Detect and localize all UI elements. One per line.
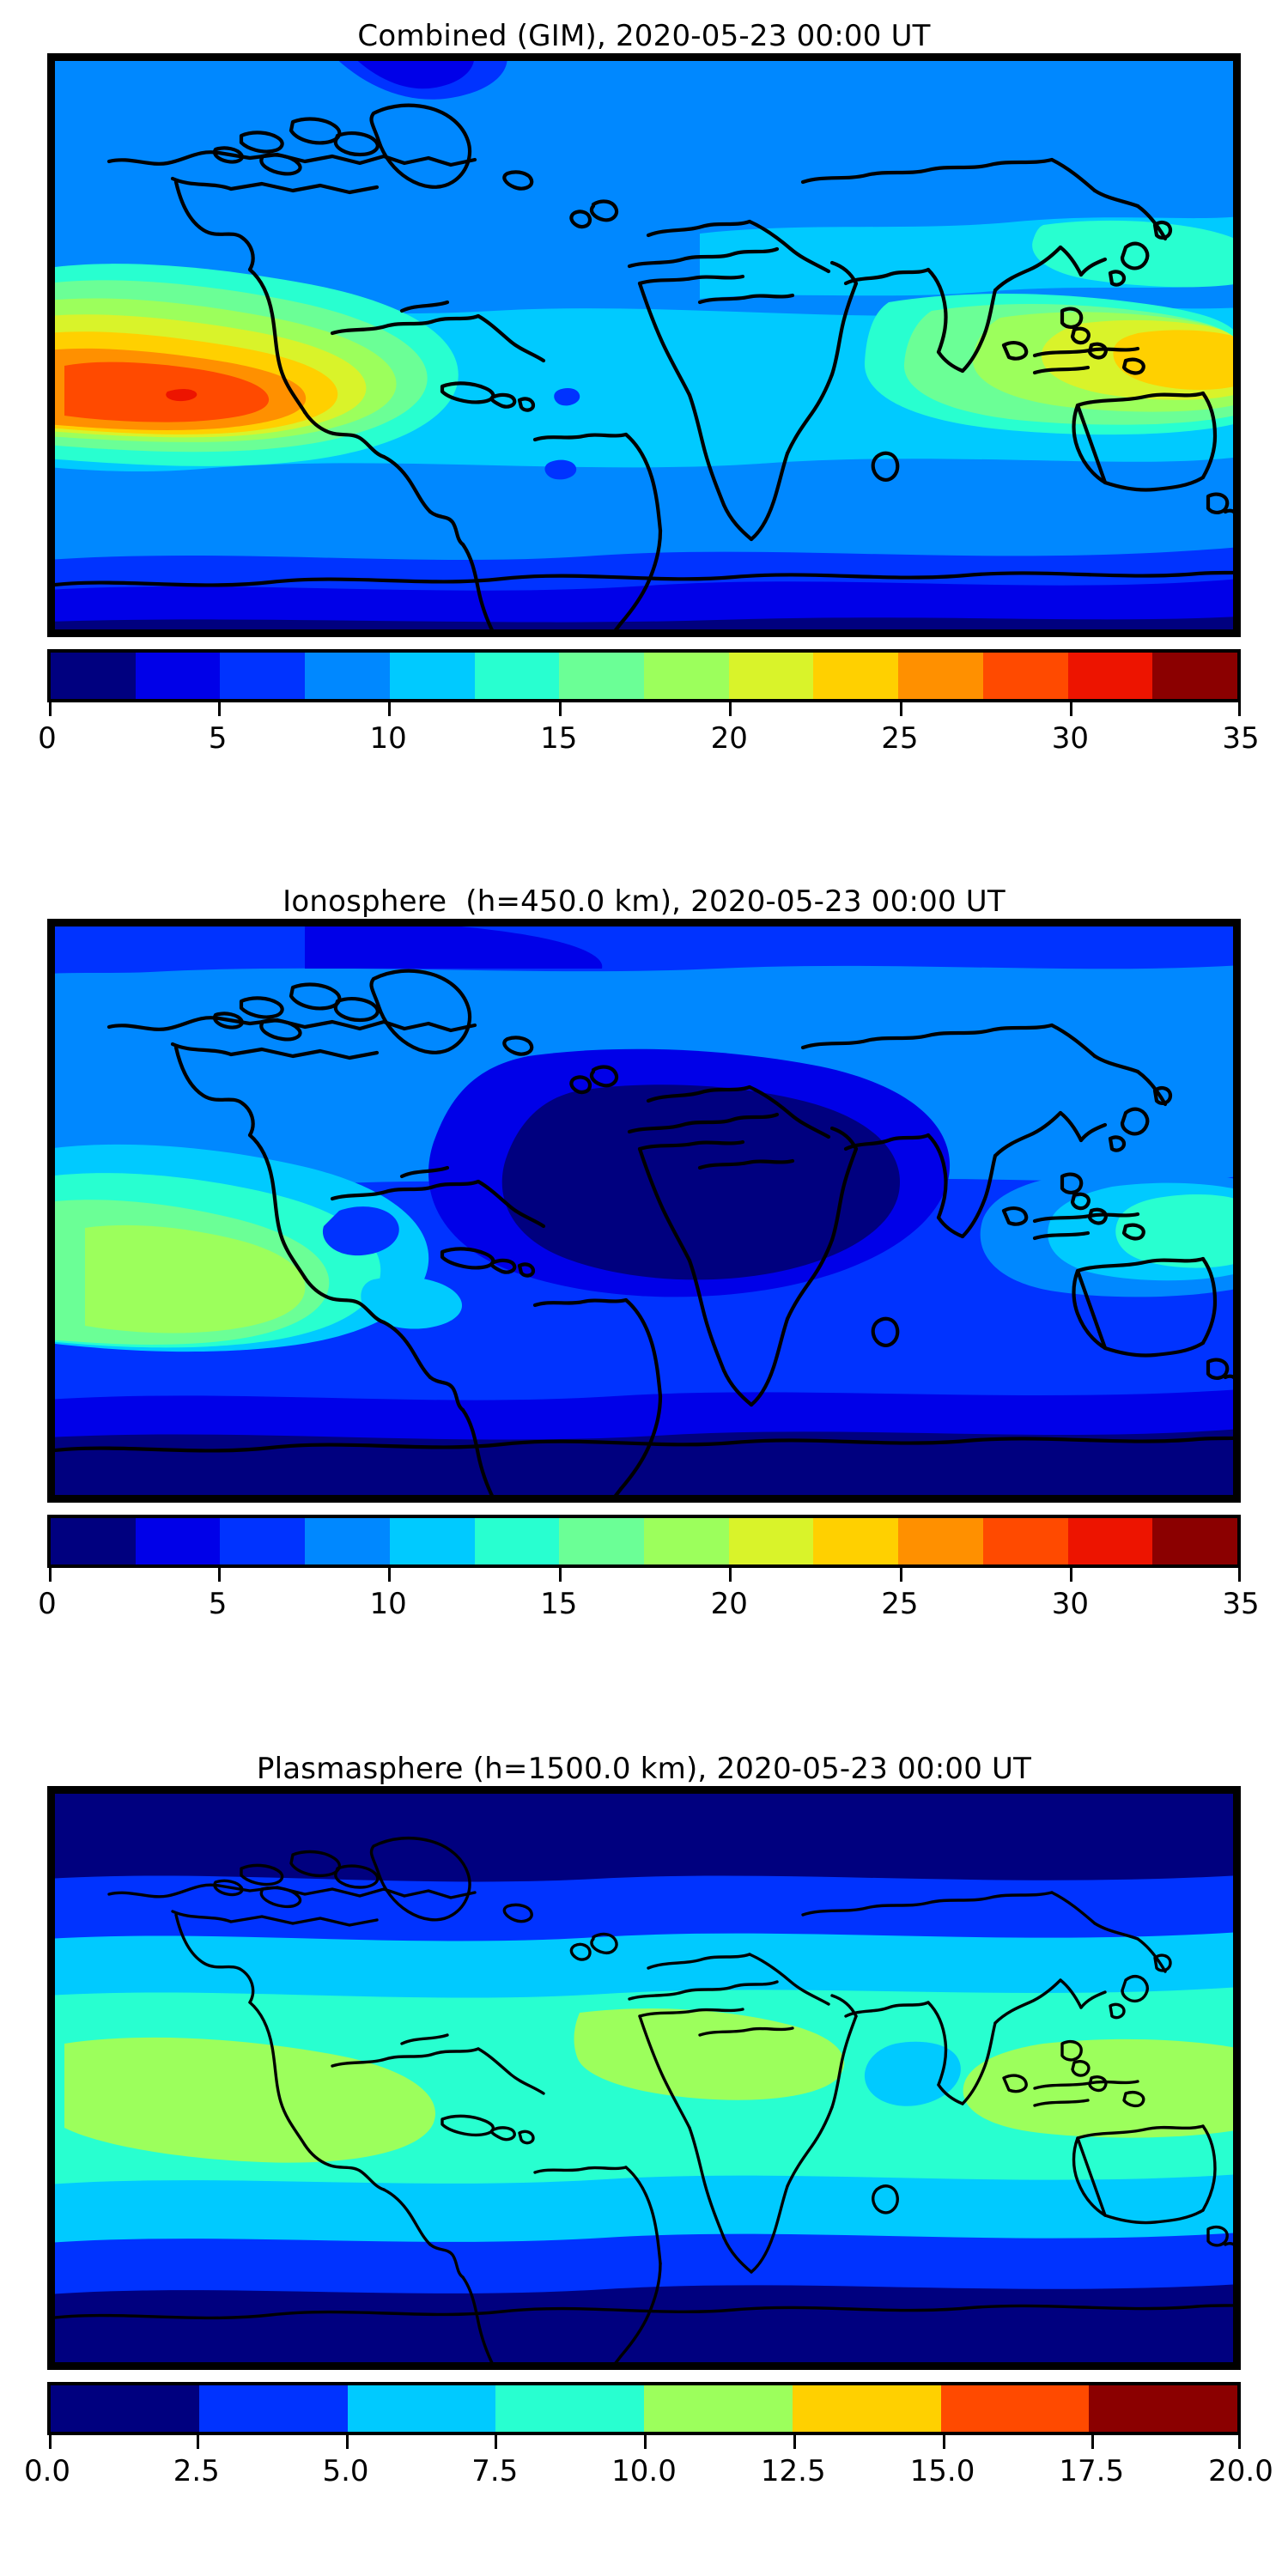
colorbar-tick-label-7: 35 xyxy=(1222,1587,1259,1621)
figure-canvas: Combined (GIM), 2020-05-23 00:00 UT xyxy=(0,0,1288,2576)
colorbar-ticks-plasmasphere xyxy=(47,2435,1241,2452)
colorbar-tick-7 xyxy=(1091,2435,1094,2449)
colorbar-band-2 xyxy=(220,1518,305,1564)
colorbar-band-1 xyxy=(199,2385,348,2432)
colorbar-band-10 xyxy=(898,1518,983,1564)
colorbar-tick-label-3: 15 xyxy=(540,721,577,756)
colorbar-tick-2 xyxy=(388,702,391,716)
panel-title-plasmasphere: Plasmasphere (h=1500.0 km), 2020-05-23 0… xyxy=(0,1752,1288,1786)
colorbar-ticks-ionosphere xyxy=(47,1568,1241,1585)
colorbar-ticklabels-plasmasphere: 0.02.55.07.510.012.515.017.520.0 xyxy=(47,2452,1241,2494)
colorbar-tick-label-1: 2.5 xyxy=(173,2454,220,2488)
panel-combined: Combined (GIM), 2020-05-23 00:00 UT xyxy=(0,19,1288,761)
panel-title-combined: Combined (GIM), 2020-05-23 00:00 UT xyxy=(0,19,1288,53)
colorbar-tick-2 xyxy=(388,1568,391,1582)
colorbar-tick-8 xyxy=(1238,2435,1241,2449)
colorbar-tick-label-0: 0 xyxy=(38,1587,57,1621)
colorbar-band-7 xyxy=(644,653,729,699)
colorbar-tick-4 xyxy=(729,1568,732,1582)
colorbar-tick-label-4: 10.0 xyxy=(611,2454,677,2488)
colorbar-tick-4 xyxy=(729,702,732,716)
colorbar-tick-7 xyxy=(1238,702,1241,716)
colorbar-band-7 xyxy=(1089,2385,1237,2432)
colorbar-band-12 xyxy=(1068,653,1153,699)
colorbar-tick-0 xyxy=(49,1568,52,1582)
colorbar-band-2 xyxy=(348,2385,496,2432)
colorbar-ticklabels-combined: 05101520253035 xyxy=(47,720,1241,761)
colorbar-band-1 xyxy=(136,653,221,699)
contour-fill-ionosphere xyxy=(47,919,1241,1503)
colorbar-band-13 xyxy=(1152,653,1237,699)
colorbar-band-4 xyxy=(390,1518,475,1564)
colorbar-band-6 xyxy=(559,653,644,699)
colorbar-tick-label-5: 12.5 xyxy=(761,2454,826,2488)
contour-fill-plasmasphere xyxy=(47,1786,1241,2370)
colorbar-band-8 xyxy=(729,653,814,699)
colorbar-band-5 xyxy=(475,1518,560,1564)
colorbar-tick-label-0: 0 xyxy=(38,721,57,756)
colorbar-tick-3 xyxy=(495,2435,497,2449)
colorbar-ticks-combined xyxy=(47,702,1241,720)
colorbar-tick-label-1: 5 xyxy=(209,1587,228,1621)
colorbar-band-13 xyxy=(1152,1518,1237,1564)
colorbar-tick-label-2: 10 xyxy=(370,1587,407,1621)
panel-ionosphere: Ionosphere (h=450.0 km), 2020-05-23 00:0… xyxy=(0,884,1288,1626)
colorbar-tick-1 xyxy=(197,2435,199,2449)
colorbar-tick-1 xyxy=(218,702,221,716)
colorbar-tick-label-0: 0.0 xyxy=(24,2454,70,2488)
colorbar-band-9 xyxy=(813,1518,898,1564)
colorbar-band-11 xyxy=(983,653,1068,699)
colorbar-strip-plasmasphere xyxy=(47,2382,1241,2435)
colorbar-band-3 xyxy=(305,1518,390,1564)
colorbar-tick-label-2: 5.0 xyxy=(322,2454,368,2488)
colorbar-tick-7 xyxy=(1238,1568,1241,1582)
colorbar-tick-label-2: 10 xyxy=(370,721,407,756)
colorbar-tick-label-4: 20 xyxy=(711,721,748,756)
colorbar-tick-label-7: 35 xyxy=(1222,721,1259,756)
colorbar-band-3 xyxy=(495,2385,644,2432)
map-combined xyxy=(47,53,1241,637)
colorbar-combined: 05101520253035 xyxy=(47,649,1241,761)
colorbar-tick-0 xyxy=(49,2435,52,2449)
colorbar-band-0 xyxy=(51,653,136,699)
colorbar-tick-5 xyxy=(793,2435,796,2449)
colorbar-band-12 xyxy=(1068,1518,1153,1564)
panel-plasmasphere: Plasmasphere (h=1500.0 km), 2020-05-23 0… xyxy=(0,1752,1288,2494)
colorbar-tick-label-5: 25 xyxy=(881,1587,918,1621)
colorbar-tick-1 xyxy=(218,1568,221,1582)
colorbar-band-0 xyxy=(51,2385,199,2432)
colorbar-band-0 xyxy=(51,1518,136,1564)
colorbar-tick-label-7: 17.5 xyxy=(1059,2454,1124,2488)
colorbar-strip-ionosphere xyxy=(47,1515,1241,1568)
colorbar-band-5 xyxy=(475,653,560,699)
colorbar-band-10 xyxy=(898,653,983,699)
colorbar-ticklabels-ionosphere: 05101520253035 xyxy=(47,1585,1241,1626)
colorbar-band-11 xyxy=(983,1518,1068,1564)
colorbar-tick-label-3: 15 xyxy=(540,1587,577,1621)
colorbar-band-3 xyxy=(305,653,390,699)
colorbar-tick-6 xyxy=(943,2435,945,2449)
colorbar-tick-6 xyxy=(1070,702,1072,716)
colorbar-tick-label-6: 30 xyxy=(1052,1587,1089,1621)
colorbar-tick-5 xyxy=(900,1568,902,1582)
colorbar-band-2 xyxy=(220,653,305,699)
colorbar-band-7 xyxy=(644,1518,729,1564)
colorbar-band-5 xyxy=(793,2385,941,2432)
colorbar-tick-label-8: 20.0 xyxy=(1208,2454,1273,2488)
colorbar-band-6 xyxy=(559,1518,644,1564)
colorbar-band-6 xyxy=(941,2385,1090,2432)
colorbar-tick-3 xyxy=(559,1568,562,1582)
colorbar-tick-label-6: 15.0 xyxy=(910,2454,975,2488)
map-ionosphere xyxy=(47,919,1241,1503)
colorbar-tick-label-1: 5 xyxy=(209,721,228,756)
colorbar-tick-3 xyxy=(559,702,562,716)
colorbar-strip-combined xyxy=(47,649,1241,702)
colorbar-tick-5 xyxy=(900,702,902,716)
colorbar-tick-label-4: 20 xyxy=(711,1587,748,1621)
colorbar-tick-label-6: 30 xyxy=(1052,721,1089,756)
colorbar-tick-label-3: 7.5 xyxy=(471,2454,518,2488)
map-plasmasphere xyxy=(47,1786,1241,2370)
colorbar-tick-2 xyxy=(346,2435,349,2449)
colorbar-plasmasphere: 0.02.55.07.510.012.515.017.520.0 xyxy=(47,2382,1241,2494)
colorbar-band-1 xyxy=(136,1518,221,1564)
colorbar-band-4 xyxy=(644,2385,793,2432)
contour-fill-combined xyxy=(47,53,1241,637)
colorbar-band-4 xyxy=(390,653,475,699)
colorbar-tick-6 xyxy=(1070,1568,1072,1582)
panel-title-ionosphere: Ionosphere (h=450.0 km), 2020-05-23 00:0… xyxy=(0,884,1288,919)
colorbar-band-9 xyxy=(813,653,898,699)
colorbar-ionosphere: 05101520253035 xyxy=(47,1515,1241,1626)
colorbar-band-8 xyxy=(729,1518,814,1564)
colorbar-tick-0 xyxy=(49,702,52,716)
colorbar-tick-label-5: 25 xyxy=(881,721,918,756)
colorbar-tick-4 xyxy=(644,2435,647,2449)
